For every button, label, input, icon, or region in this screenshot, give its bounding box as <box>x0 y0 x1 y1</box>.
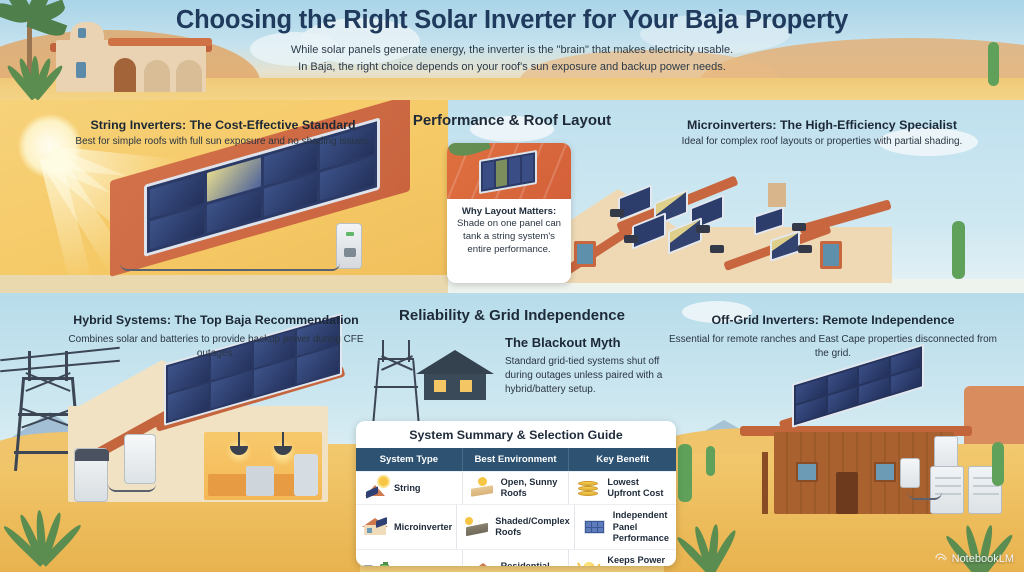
cell-text: Shaded/Complex Roofs <box>495 516 570 538</box>
callout-body: Shade on one panel can tank a string sys… <box>453 218 565 256</box>
cell-system-type: String <box>356 471 463 504</box>
blackout-myth-body: Standard grid-tied systems shut off duri… <box>505 355 680 397</box>
hero-band: Choosing the Right Solar Inverter for Yo… <box>0 0 1024 100</box>
notebooklm-watermark: NotebookLM <box>935 553 1014 565</box>
shaded-panel-illustration <box>447 143 571 199</box>
hero-text-block: Choosing the Right Solar Inverter for Yo… <box>0 6 1024 76</box>
agave-plant-icon <box>678 524 736 572</box>
reliability-band-title: Reliability & Grid Independence <box>0 307 1024 324</box>
microinverter-unit <box>792 223 806 231</box>
microinverter-subheading: Ideal for complex roof layouts or proper… <box>632 135 1012 149</box>
callout-heading: Why Layout Matters: <box>453 206 565 218</box>
cell-text: Keeps Power On During Blackouts <box>607 555 672 566</box>
blackout-myth-block: The Blackout Myth Standard grid-tied sys… <box>505 335 680 397</box>
agave-plant-icon <box>8 510 70 564</box>
cell-best-environment: Residential Homes <box>463 549 570 566</box>
cell-key-benefit: Independent Panel Performance <box>575 504 676 549</box>
table-header-row: System Type Best Environment Key Benefit <box>356 448 676 471</box>
table-row: String Open, Sunny Roofs Lowest Upfront … <box>356 471 676 504</box>
kitchen-cutaway <box>204 432 322 500</box>
coins-icon <box>576 477 602 499</box>
battery-unit <box>74 448 108 502</box>
microinverter-unit <box>610 209 624 217</box>
microinverter-house-illustration <box>540 165 892 283</box>
hero-subtitle-line-2: In Baja, the right choice depends on you… <box>0 60 1024 76</box>
infographic-root: Choosing the Right Solar Inverter for Yo… <box>0 0 1024 572</box>
home-icon <box>470 561 496 566</box>
microinverter-unit <box>696 225 710 233</box>
offgrid-subheading: Essential for remote ranches and East Ca… <box>668 333 998 361</box>
cell-text: Residential Homes <box>501 561 565 566</box>
shaded-roof-icon <box>464 516 490 538</box>
microinverter-unit <box>798 245 812 253</box>
column-header-system-type: System Type <box>356 448 463 471</box>
blackout-myth-heading: The Blackout Myth <box>505 335 680 351</box>
roof-with-sun-icon <box>363 477 389 499</box>
solar-panel-icon <box>582 516 608 538</box>
table-row: + Hybrid Residential Homes Keeps Power O… <box>356 549 676 566</box>
hero-subtitle-line-1: While solar panels generate energy, the … <box>0 43 1024 59</box>
microinverter-unit <box>710 245 724 253</box>
cell-best-environment: Open, Sunny Roofs <box>463 471 570 504</box>
performance-band-title: Performance & Roof Layout <box>0 112 1024 129</box>
cell-text: Independent Panel Performance <box>613 510 672 544</box>
offgrid-cabin-illustration <box>740 378 972 514</box>
cactus-icon <box>952 221 965 279</box>
microinverter-unit <box>624 235 638 243</box>
inverter-plus-battery-icon: + <box>363 561 389 566</box>
sunny-roof-icon <box>470 477 496 499</box>
cell-key-benefit: Lowest Upfront Cost <box>569 471 676 504</box>
hybrid-subheading: Combines solar and batteries to provide … <box>56 333 376 361</box>
column-header-key-benefit: Key Benefit <box>569 448 676 471</box>
string-subheading: Best for simple roofs with full sun expo… <box>38 135 408 149</box>
cell-system-type: + Hybrid <box>356 549 463 566</box>
hybrid-house-illustration <box>68 352 328 502</box>
table-body: String Open, Sunny Roofs Lowest Upfront … <box>356 471 676 566</box>
cell-text: Lowest Upfront Cost <box>607 477 672 499</box>
cell-text: Microinverter <box>394 522 452 533</box>
cactus-icon <box>706 446 715 476</box>
cell-text: Open, Sunny Roofs <box>501 477 565 499</box>
cell-system-type: Microinverter <box>356 504 457 549</box>
cactus-icon <box>678 444 692 502</box>
column-header-best-environment: Best Environment <box>463 448 570 471</box>
power-pylon-icon <box>372 340 420 424</box>
hybrid-inverter-unit <box>124 434 156 484</box>
cell-best-environment: Shaded/Complex Roofs <box>457 504 575 549</box>
watermark-label: NotebookLM <box>952 553 1014 565</box>
notebooklm-logo-icon <box>935 554 948 565</box>
small-house-illustration <box>418 348 492 400</box>
summary-table-card: System Summary & Selection Guide System … <box>356 421 676 566</box>
table-row: Microinverter Shaded/Complex Roofs Indep… <box>356 504 676 549</box>
page-title: Choosing the Right Solar Inverter for Yo… <box>0 6 1024 35</box>
cell-text: String <box>394 483 421 494</box>
cactus-icon <box>992 442 1004 486</box>
lightbulb-icon <box>576 561 602 566</box>
cell-key-benefit: Keeps Power On During Blackouts <box>569 549 676 566</box>
why-layout-matters-card: Why Layout Matters: Shade on one panel c… <box>447 143 571 283</box>
house-with-panels-icon <box>363 516 389 538</box>
offgrid-inverter-unit <box>900 458 920 488</box>
summary-table-title: System Summary & Selection Guide <box>356 421 676 448</box>
offgrid-inverter-unit <box>934 436 958 470</box>
